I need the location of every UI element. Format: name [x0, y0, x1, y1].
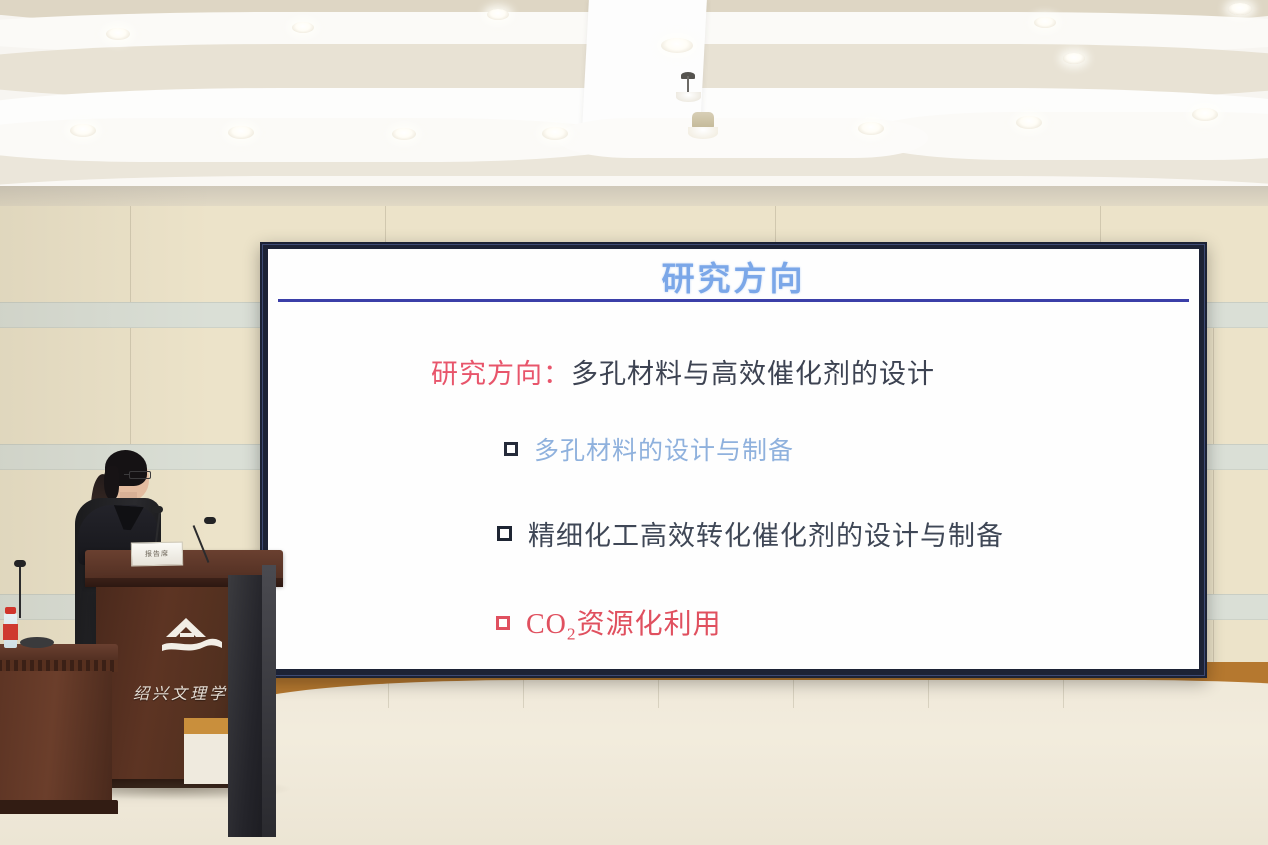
downlight-icon	[1228, 3, 1252, 15]
presentation-photo-scene: 研究方向 研究方向：多孔材料与高效催化剂的设计 多孔材料的设计与制备 精细化工高…	[0, 0, 1268, 845]
slide-title-rule	[278, 299, 1189, 302]
slide-bullet-2: 精细化工高效转化催化剂的设计与制备	[497, 514, 1004, 553]
university-logo-icon	[160, 615, 224, 655]
water-bottle-cap	[5, 607, 16, 614]
bullet-square-icon	[496, 616, 510, 630]
speaker-hair-side	[104, 466, 119, 500]
co2-formula-prefix: CO	[526, 609, 567, 640]
slide-heading-value: 多孔材料与高效催化剂的设计	[571, 359, 935, 389]
downlight-icon	[106, 28, 130, 40]
downlight-icon	[858, 122, 884, 135]
slide-title: 研究方向	[268, 252, 1199, 300]
wall-seam	[1213, 328, 1214, 444]
ceiling	[0, 0, 1268, 196]
slide-bullet-3: CO2资源化利用	[496, 602, 722, 645]
downlight-icon	[487, 9, 509, 20]
foreground-dark-column-edge	[262, 565, 276, 837]
glasses-icon	[129, 471, 151, 479]
downlight-icon	[1063, 53, 1085, 64]
downlight-icon	[292, 22, 314, 33]
downlight-icon	[70, 124, 96, 137]
ceiling-soffit-left	[0, 118, 640, 162]
table-microphone-stem	[19, 566, 21, 618]
foreground-wall-strip	[184, 734, 234, 784]
slide-bullet-1-label: 多孔材料的设计与制备	[534, 431, 794, 467]
table-microphone-head-icon	[14, 560, 26, 567]
projection-screen[interactable]: 研究方向 研究方向：多孔材料与高效催化剂的设计 多孔材料的设计与制备 精细化工高…	[260, 242, 1207, 678]
podium-microphone-head-icon	[151, 506, 163, 513]
slide-heading-line: 研究方向：多孔材料与高效催化剂的设计	[431, 352, 935, 391]
downlight-icon	[392, 128, 416, 140]
downlight-icon	[661, 38, 693, 53]
water-bottle-label	[3, 624, 18, 640]
front-desk-base	[0, 800, 118, 814]
slide-bullet-3-label: CO2资源化利用	[526, 602, 722, 645]
bullet-square-icon	[504, 442, 518, 456]
co2-subscript: 2	[567, 625, 577, 644]
slide-bullet-1: 多孔材料的设计与制备	[504, 431, 794, 467]
slide-heading-label: 研究方向：	[431, 359, 571, 389]
downlight-icon	[228, 126, 254, 139]
downlight-icon	[1016, 116, 1042, 129]
bullet-square-icon	[497, 526, 512, 541]
co2-formula-suffix: 资源化利用	[577, 609, 722, 640]
pendant-downlight-upper-icon	[676, 92, 701, 102]
downlight-icon	[1034, 17, 1056, 28]
front-desk-front-panel	[0, 671, 112, 811]
pendant-downlight-lower-icon	[688, 127, 718, 139]
slide-content: 研究方向 研究方向：多孔材料与高效催化剂的设计 多孔材料的设计与制备 精细化工高…	[268, 249, 1199, 669]
podium-microphone-head-icon-2	[204, 517, 216, 524]
desk-tray	[20, 637, 54, 648]
downlight-icon	[1192, 108, 1218, 121]
foreground-wood-strip	[184, 718, 234, 734]
downlight-icon	[542, 127, 568, 140]
wall-seam	[1213, 470, 1214, 594]
podium-nameplate: 报告席	[131, 542, 183, 567]
slide-bullet-2-label: 精细化工高效转化催化剂的设计与制备	[528, 514, 1004, 553]
